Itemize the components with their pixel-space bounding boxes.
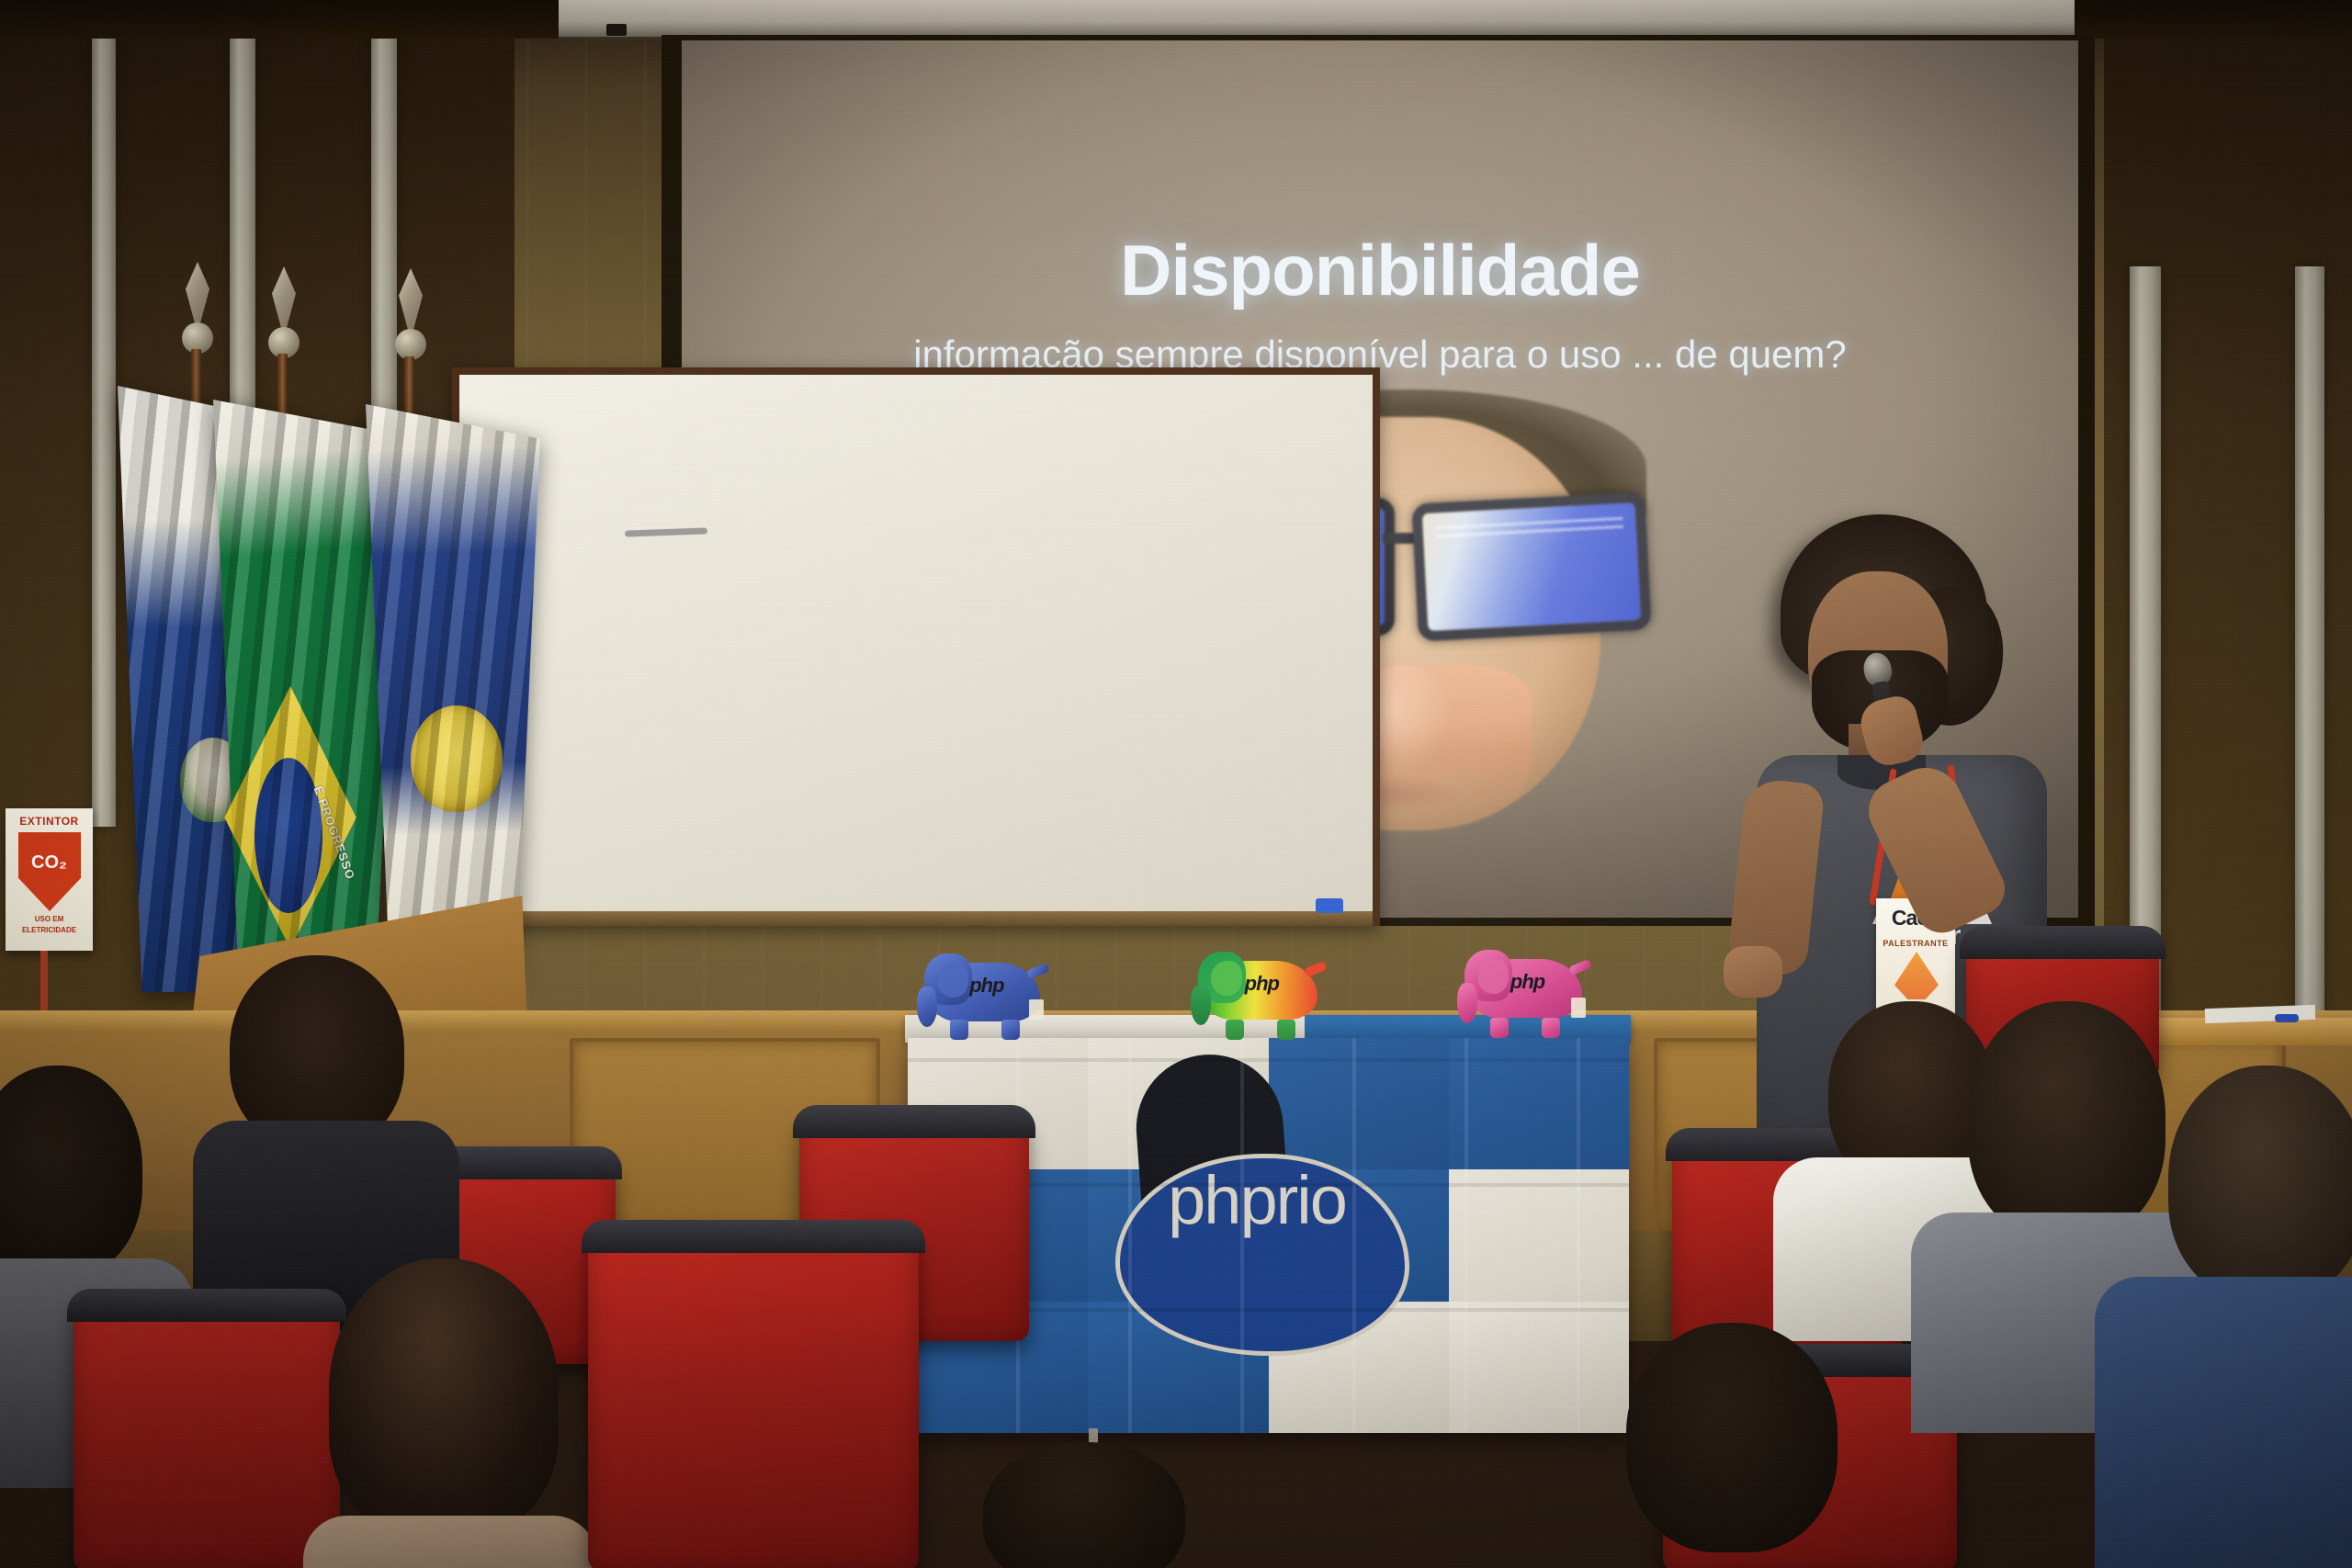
elephpant-leg <box>1542 1018 1560 1038</box>
flag-institution <box>366 404 540 983</box>
audience-head <box>230 955 404 1148</box>
wall-pilaster-4 <box>2130 266 2161 1020</box>
finial-ball-3 <box>395 329 426 360</box>
elephpant-pink: php <box>1470 942 1582 1023</box>
whiteboard-marker <box>1316 898 1343 913</box>
audience-member-dark-head-right <box>1599 1323 1874 1568</box>
whiteboard <box>459 375 1373 917</box>
extinguisher-use-line-2: ELETRICIDADE <box>6 926 93 934</box>
audience-head <box>983 1442 1185 1568</box>
audience-member-blue-shirt <box>2095 1130 2352 1568</box>
audience-head <box>1626 1323 1837 1552</box>
elephpant-ear <box>937 963 968 998</box>
extinguisher-label: EXTINTOR <box>6 815 93 828</box>
badge-flame-icon <box>1894 952 1939 999</box>
elephpant-tag <box>1571 998 1586 1018</box>
roller-endcap <box>606 24 627 36</box>
elephpant-leg <box>1001 1020 1020 1040</box>
wall-pilaster-1 <box>92 0 116 827</box>
elephpant-trunk <box>1457 983 1477 1023</box>
elephpant-rainbow: php <box>1204 944 1317 1025</box>
elephpant-leg <box>1226 1020 1244 1040</box>
elephpant-leg <box>950 1020 968 1040</box>
elephpant-blue: php <box>930 946 1040 1025</box>
audience-torso <box>303 1516 597 1568</box>
elephpant-ear <box>1477 959 1509 994</box>
whiteboard-smudge <box>625 527 707 536</box>
elephpant-trunk <box>917 987 937 1027</box>
elephpant-php-label: php <box>969 974 1003 998</box>
elephpant-ear <box>1211 961 1242 996</box>
projector-screen-roller <box>559 0 2075 39</box>
flag-institution-folds <box>366 404 540 983</box>
audience-torso <box>2095 1277 2352 1568</box>
elephpant-php-label: php <box>1245 972 1279 996</box>
audience-head <box>329 1258 559 1534</box>
chair-front-left-1[interactable] <box>73 1295 340 1568</box>
chair-front-center[interactable] <box>588 1226 919 1568</box>
speaker-left-hand <box>1724 946 1782 998</box>
fire-extinguisher-sign: EXTINTOR CO₂ USO EM ELETRICIDADE <box>6 808 93 951</box>
elephpant-trunk <box>1191 985 1211 1025</box>
audience-head <box>2168 1066 2352 1300</box>
extinguisher-use-line-1: USO EM <box>6 915 93 923</box>
whiteboard-frame <box>452 367 1380 926</box>
audience-member-long-hair <box>303 1258 597 1568</box>
whiteboard-marker-tray <box>459 911 1373 926</box>
audience-member-center-dark <box>965 1442 1204 1568</box>
wall-pilaster-5 <box>2295 266 2324 1020</box>
elephpant-tag <box>1029 999 1044 1020</box>
elephpant-php-label: php <box>1510 970 1544 994</box>
conference-photo: Disponibilidade informação sempre dispon… <box>0 0 2352 1568</box>
elephpant-leg <box>1490 1018 1509 1038</box>
side-table-pen <box>2275 1014 2299 1022</box>
elephpant-leg <box>1277 1020 1295 1040</box>
extinguisher-agent: CO₂ <box>6 852 93 874</box>
audience-head <box>0 1066 142 1277</box>
badge-role: PALESTRANTE <box>1876 939 1955 948</box>
